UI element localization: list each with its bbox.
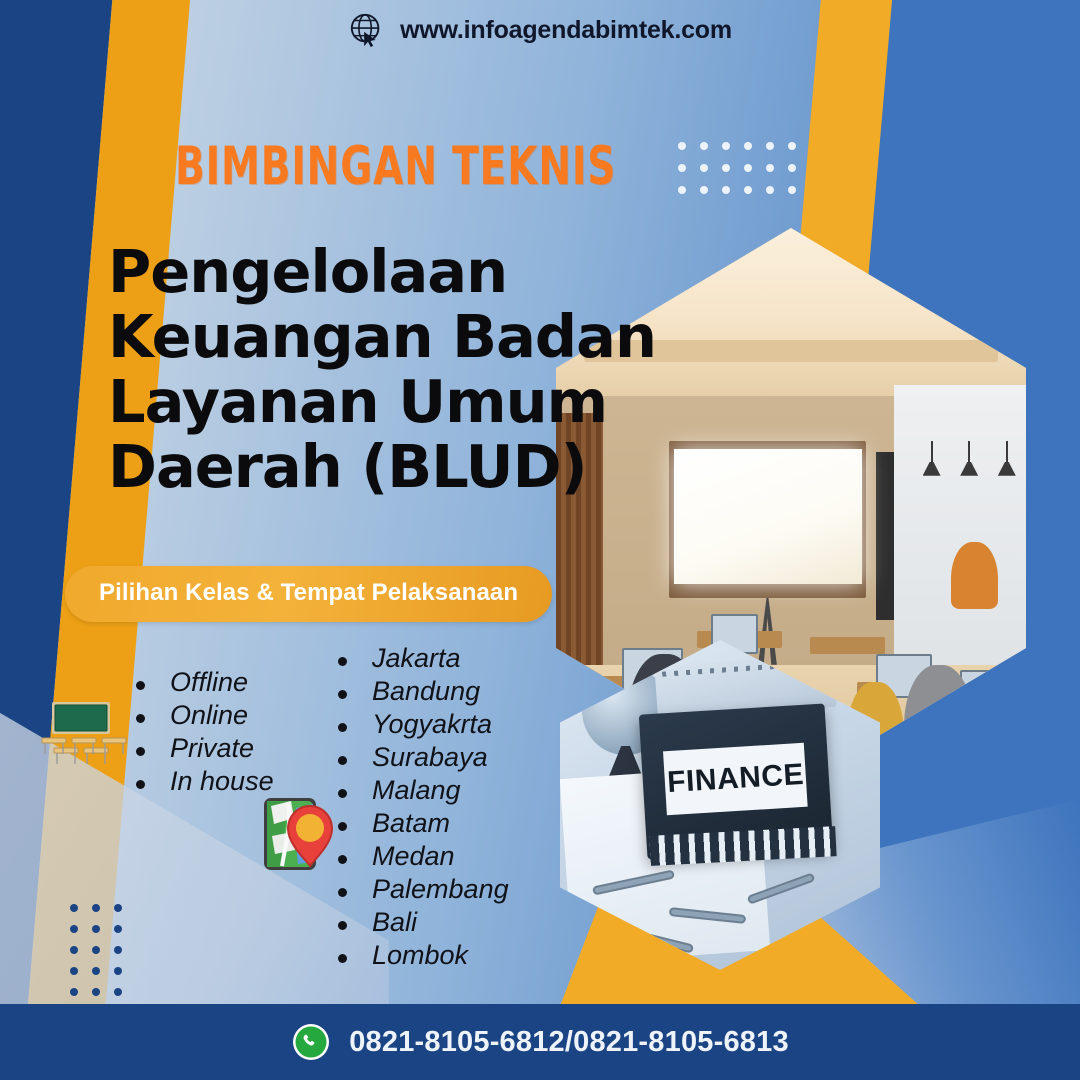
whatsapp-icon[interactable] bbox=[291, 1022, 331, 1062]
kicker-text: BIMBINGAN TEKNIS bbox=[175, 136, 616, 197]
page-title: Pengelolaan Keuangan Badan Layanan Umum … bbox=[108, 240, 656, 500]
list-item: Offline bbox=[128, 668, 274, 698]
class-options-list: Offline Online Private In house bbox=[128, 668, 274, 800]
website-bar: www.infoagendabimtek.com bbox=[0, 0, 1080, 60]
website-url[interactable]: www.infoagendabimtek.com bbox=[400, 16, 732, 45]
list-item: Malang bbox=[330, 776, 509, 806]
list-item: Medan bbox=[330, 842, 509, 872]
list-item: Bali bbox=[330, 908, 509, 938]
list-item: Surabaya bbox=[330, 743, 509, 773]
list-item: Palembang bbox=[330, 875, 509, 905]
classroom-icon bbox=[36, 698, 132, 770]
list-item: Jakarta bbox=[330, 644, 509, 674]
list-item: Batam bbox=[330, 809, 509, 839]
contact-bar: 0821-8105-6812/0821-8105-6813 bbox=[0, 1004, 1080, 1080]
headline-line-2: Keuangan Badan bbox=[108, 305, 656, 370]
locations-list: Jakarta Bandung Yogyakrta Surabaya Malan… bbox=[330, 644, 509, 974]
list-item: Bandung bbox=[330, 677, 509, 707]
list-item: Yogyakrta bbox=[330, 710, 509, 740]
headline-line-1: Pengelolaan bbox=[108, 240, 656, 305]
section-badge: Pilihan Kelas & Tempat Pelaksanaan bbox=[65, 566, 552, 622]
globe-cursor-icon bbox=[348, 11, 386, 49]
flyer-canvas: www.infoagendabimtek.com bbox=[0, 0, 1080, 1080]
headline-line-4: Daerah (BLUD) bbox=[108, 435, 656, 500]
finance-binder-label: FINANCE bbox=[666, 758, 805, 800]
list-item: Online bbox=[128, 701, 274, 731]
list-item: In house bbox=[128, 767, 274, 797]
dot-grid-top-right bbox=[678, 142, 810, 208]
list-item: Lombok bbox=[330, 941, 509, 971]
list-item: Private bbox=[128, 734, 274, 764]
contact-phone[interactable]: 0821-8105-6812/0821-8105-6813 bbox=[349, 1026, 789, 1059]
headline-line-3: Layanan Umum bbox=[108, 370, 656, 435]
